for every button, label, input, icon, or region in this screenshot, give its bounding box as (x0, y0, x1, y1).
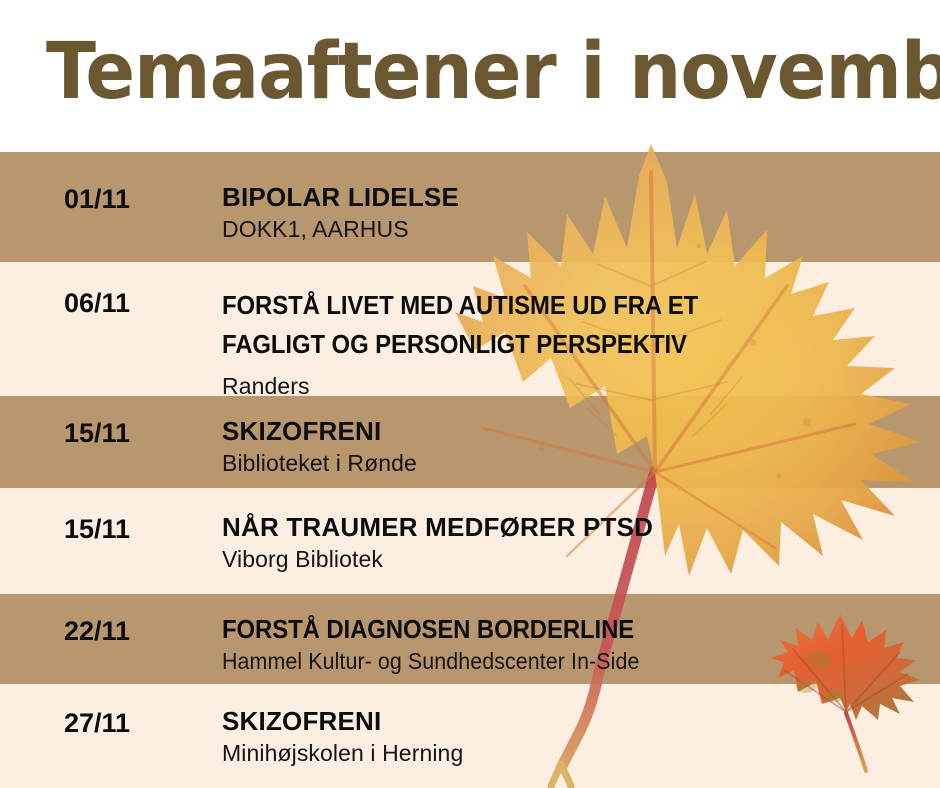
event-date: 27/11 (64, 708, 130, 738)
event-title: NÅR TRAUMER MEDFØRER PTSD (222, 512, 922, 542)
event-title: FORSTÅ DIAGNOSEN BORDERLINE (222, 614, 866, 644)
event-date: 06/11 (64, 288, 130, 318)
list-item[interactable]: 01/11 BIPOLAR LIDELSE DOKK1, AARHUS (0, 152, 940, 262)
event-date: 15/11 (64, 418, 130, 448)
list-item[interactable]: 27/11 SKIZOFRENI Minihøjskolen i Herning (0, 684, 940, 788)
event-venue: DOKK1, AARHUS (222, 215, 922, 243)
event-venue: Biblioteket i Rønde (222, 449, 922, 477)
list-item[interactable]: 06/11 FORSTÅ LIVET MED AUTISME UD FRA ET… (0, 262, 940, 396)
list-item[interactable]: 15/11 NÅR TRAUMER MEDFØRER PTSD Viborg B… (0, 488, 940, 594)
list-item[interactable]: 22/11 FORSTÅ DIAGNOSEN BORDERLINE Hammel… (0, 594, 940, 684)
event-venue: Minihøjskolen i Herning (222, 739, 922, 767)
event-date: 22/11 (64, 616, 130, 646)
event-list: 01/11 BIPOLAR LIDELSE DOKK1, AARHUS 06/1… (0, 0, 940, 788)
event-date: 01/11 (64, 184, 130, 214)
event-title: SKIZOFRENI (222, 706, 922, 736)
event-body: NÅR TRAUMER MEDFØRER PTSD Viborg Bibliot… (222, 512, 922, 573)
event-title: SKIZOFRENI (222, 416, 922, 446)
event-title: FORSTÅ LIVET MED AUTISME UD FRA ET FAGLI… (222, 286, 866, 364)
event-body: SKIZOFRENI Biblioteket i Rønde (222, 416, 922, 477)
event-body: BIPOLAR LIDELSE DOKK1, AARHUS (222, 182, 922, 243)
event-body: FORSTÅ LIVET MED AUTISME UD FRA ET FAGLI… (222, 286, 922, 400)
event-date: 15/11 (64, 514, 130, 544)
event-venue: Viborg Bibliotek (222, 545, 922, 573)
event-venue: Hammel Kultur- og Sundhedscenter In-Side (222, 647, 873, 675)
list-item[interactable]: 15/11 SKIZOFRENI Biblioteket i Rønde (0, 396, 940, 488)
event-title: BIPOLAR LIDELSE (222, 182, 922, 212)
event-body: FORSTÅ DIAGNOSEN BORDERLINE Hammel Kultu… (222, 614, 922, 675)
event-body: SKIZOFRENI Minihøjskolen i Herning (222, 706, 922, 767)
poster-root: Temaaftener i november 01/11 BIPOLAR LID… (0, 0, 940, 788)
